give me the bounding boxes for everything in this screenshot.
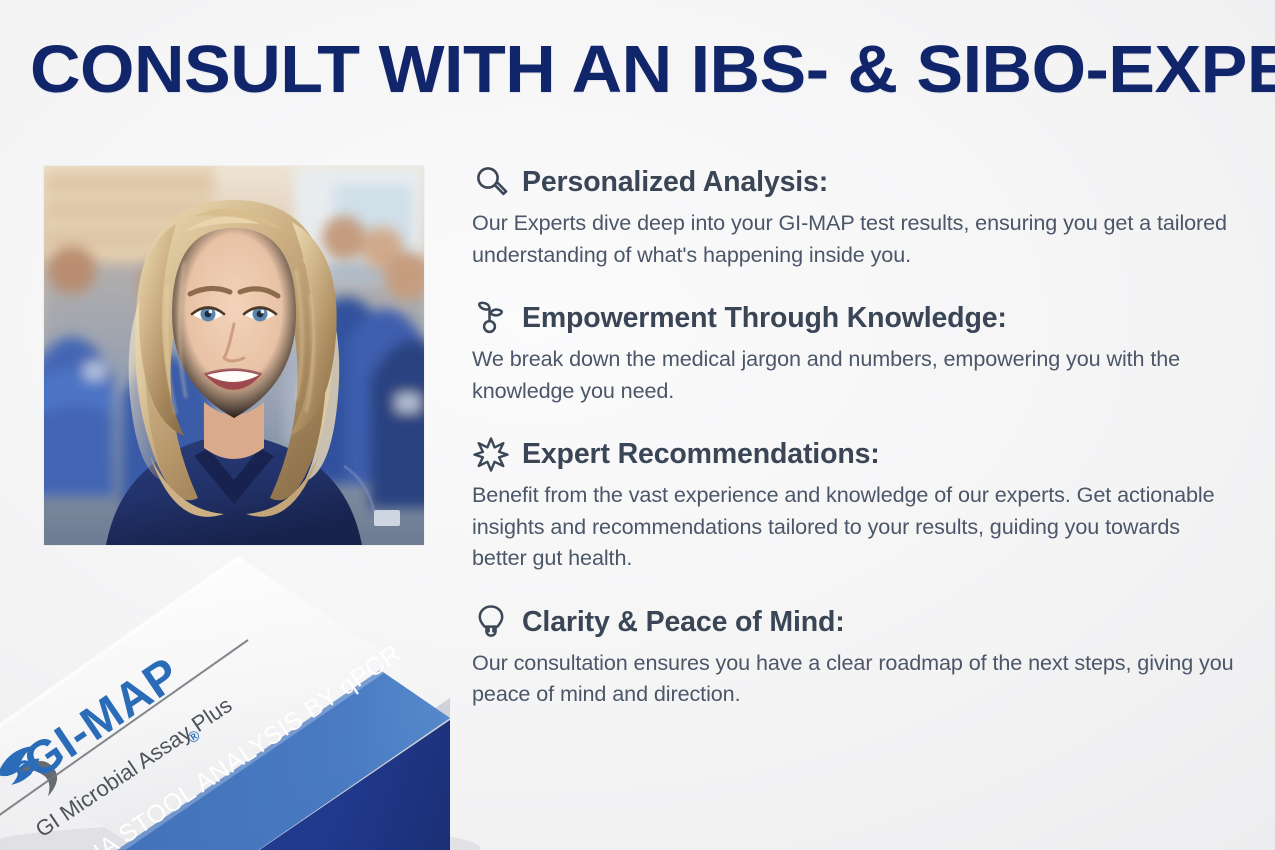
feature-heading-row: Clarity & Peace of Mind: bbox=[472, 602, 1242, 642]
feature-heading-row: Empowerment Through Knowledge: bbox=[472, 298, 1242, 338]
magnifier-icon bbox=[472, 162, 510, 202]
lightbulb-icon bbox=[472, 602, 510, 642]
feature-block-expert-recommendations: Expert Recommendations: Benefit from the… bbox=[472, 434, 1242, 574]
portrait-image bbox=[44, 166, 424, 545]
feature-body: Benefit from the vast experience and kno… bbox=[472, 479, 1237, 574]
promo-section: CONSULT WITH AN IBS- & SIBO-EXPERT bbox=[0, 0, 1275, 850]
feature-body: Our Experts dive deep into your GI-MAP t… bbox=[472, 207, 1237, 270]
feature-list: Personalized Analysis: Our Experts dive … bbox=[472, 162, 1242, 710]
feature-block-empowerment-through-knowledge: Empowerment Through Knowledge: We break … bbox=[472, 298, 1242, 406]
feature-heading-row: Expert Recommendations: bbox=[472, 434, 1242, 474]
feature-block-clarity-peace-of-mind: Clarity & Peace of Mind: Our consultatio… bbox=[472, 602, 1242, 710]
feature-heading-row: Personalized Analysis: bbox=[472, 162, 1242, 202]
sprout-icon bbox=[472, 298, 510, 338]
feature-title: Empowerment Through Knowledge: bbox=[522, 301, 1007, 335]
feature-body: Our consultation ensures you have a clea… bbox=[472, 647, 1237, 710]
feature-title: Personalized Analysis: bbox=[522, 165, 828, 199]
expert-portrait bbox=[44, 166, 424, 545]
feature-title: Clarity & Peace of Mind: bbox=[522, 605, 845, 639]
feature-body: We break down the medical jargon and num… bbox=[472, 343, 1237, 406]
feature-title: Expert Recommendations: bbox=[522, 437, 880, 471]
starburst-icon bbox=[472, 434, 510, 474]
page-title: CONSULT WITH AN IBS- & SIBO-EXPERT bbox=[30, 28, 1275, 112]
feature-block-personalized-analysis: Personalized Analysis: Our Experts dive … bbox=[472, 162, 1242, 270]
gimap-box-image: GI-MAP ® GI Microbial Assay Plus DNA STO… bbox=[0, 548, 480, 850]
gimap-product-box: GI-MAP ® GI Microbial Assay Plus DNA STO… bbox=[0, 548, 480, 850]
